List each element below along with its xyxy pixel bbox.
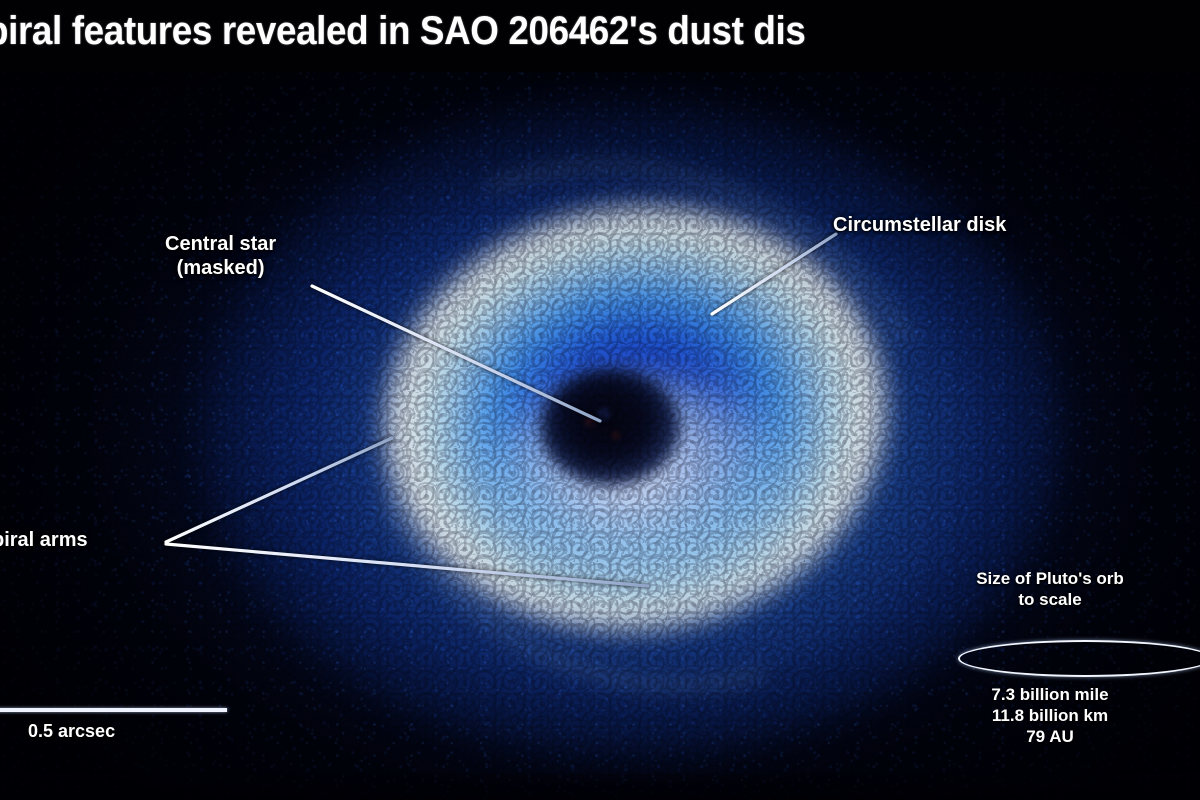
- page-title: piral features revealed in SAO 206462's …: [0, 9, 805, 54]
- bottom-dark-band: [0, 774, 1200, 800]
- spiral-arm-lower-graphic: [279, 94, 1009, 781]
- coronagraph-mask: [540, 368, 680, 486]
- title-bar: piral features revealed in SAO 206462's …: [0, 0, 1200, 72]
- pluto-caption-line1: Size of Pluto's orb: [900, 568, 1200, 589]
- pluto-scale-caption: Size of Pluto's orb to scale: [900, 568, 1200, 610]
- circumstellar-disk-pointer: [712, 234, 836, 314]
- pluto-caption-line2: to scale: [900, 589, 1200, 610]
- label-central-star-line2: (masked): [165, 256, 276, 280]
- label-circumstellar-disk: Circumstellar disk: [833, 213, 1006, 237]
- disk-bright-annulus: [358, 175, 912, 660]
- label-central-star: Central star (masked): [165, 232, 276, 280]
- astronomy-image-field: Central star (masked) Circumstellar disk…: [0, 68, 1200, 800]
- spiral-arm-upper-graphic: [260, 78, 1018, 776]
- disk-brightness-peak: [480, 378, 810, 608]
- spiral-arm-pointer-upper: [166, 438, 392, 542]
- screenshot-root: piral features revealed in SAO 206462's …: [0, 0, 1200, 800]
- central-star-pointer: [312, 286, 600, 421]
- spiral-arm-pointer-lower: [166, 544, 648, 586]
- core-residual-speckles: [565, 396, 647, 460]
- disk-outer-halo: [200, 98, 1060, 758]
- pluto-distance-km: 11.8 billion km: [900, 705, 1200, 726]
- pluto-distance-readout: 7.3 billion mile 11.8 billion km 79 AU: [900, 684, 1200, 747]
- pluto-orbit-ellipse: [958, 640, 1200, 677]
- label-central-star-line1: Central star: [165, 232, 276, 256]
- pluto-distance-au: 79 AU: [900, 726, 1200, 747]
- scale-bar-label: 0.5 arcsec: [28, 721, 115, 742]
- pluto-distance-miles: 7.3 billion mile: [900, 684, 1200, 705]
- label-spiral-arms: piral arms: [0, 528, 88, 552]
- scale-bar-line: [0, 708, 227, 712]
